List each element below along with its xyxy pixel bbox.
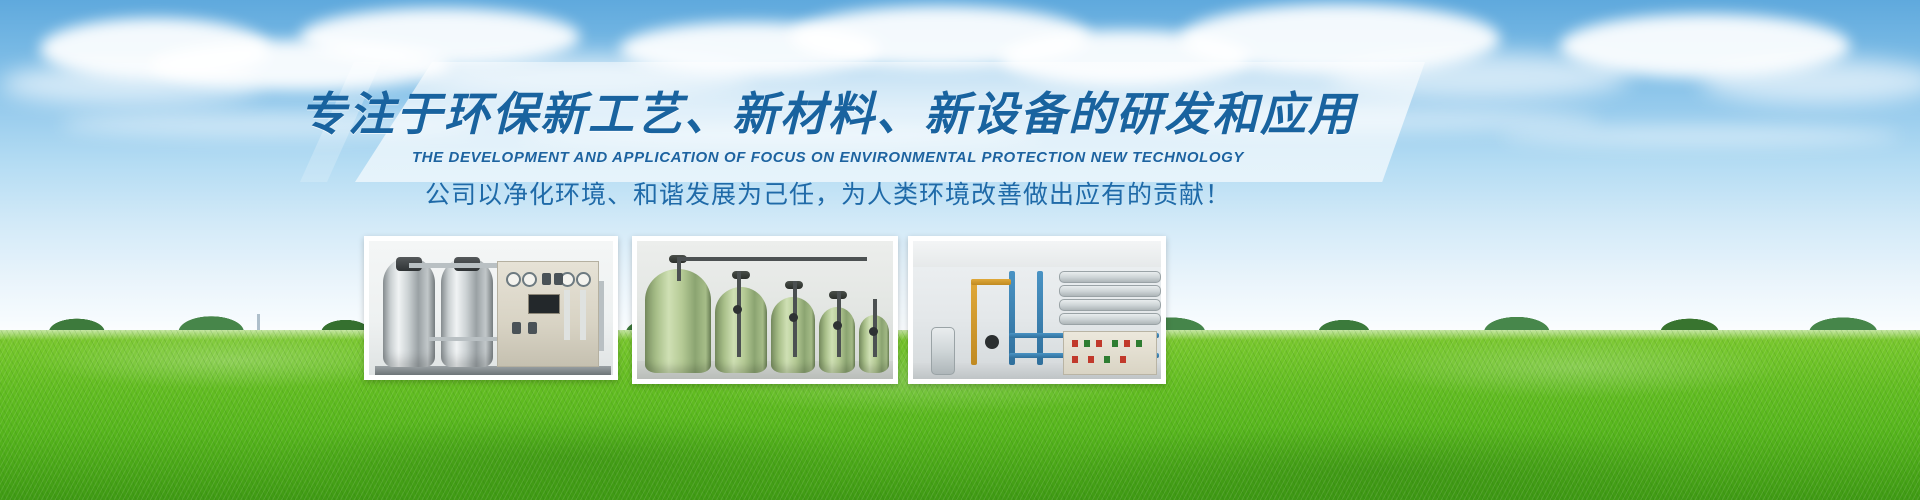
product-photo-3[interactable] bbox=[908, 236, 1166, 384]
indicator-light bbox=[1072, 356, 1078, 363]
indicator-light bbox=[1096, 340, 1102, 347]
header-pipe bbox=[677, 257, 867, 261]
blue-pipe bbox=[1037, 271, 1043, 365]
product-photo-1[interactable] bbox=[364, 236, 618, 380]
vessel-cap bbox=[732, 271, 750, 279]
frp-vessel bbox=[715, 287, 767, 373]
indicator-light bbox=[1120, 356, 1126, 363]
control-switch bbox=[512, 322, 521, 334]
product-photo-2[interactable] bbox=[632, 236, 898, 384]
control-switch bbox=[554, 273, 563, 285]
pressure-gauge bbox=[576, 272, 591, 287]
control-switch bbox=[528, 322, 537, 334]
ro-membrane-tube bbox=[1059, 313, 1161, 325]
indicator-light bbox=[1112, 340, 1118, 347]
pressure-gauge bbox=[522, 272, 537, 287]
pipe bbox=[677, 257, 681, 281]
product-photo-2-image bbox=[637, 241, 893, 379]
pipe bbox=[737, 271, 741, 357]
yellow-pipe bbox=[971, 279, 977, 365]
indicator-light bbox=[1136, 340, 1142, 347]
banner-subtitle-en: THE DEVELOPMENT AND APPLICATION OF FOCUS… bbox=[300, 148, 1356, 168]
filter-housing bbox=[931, 327, 955, 375]
control-panel bbox=[1063, 331, 1157, 375]
banner-text-block: 专注于环保新工艺、新材料、新设备的研发和应用 THE DEVELOPMENT A… bbox=[0, 86, 1920, 212]
pipe bbox=[599, 281, 604, 351]
indicator-light bbox=[1088, 356, 1094, 363]
product-photo-row bbox=[0, 236, 1920, 396]
ro-membrane-tube bbox=[1059, 285, 1161, 297]
product-photo-1-image bbox=[369, 241, 613, 375]
steel-tank bbox=[441, 257, 493, 367]
valve bbox=[789, 313, 798, 322]
control-cabinet bbox=[497, 261, 599, 367]
banner-headline: 专注于环保新工艺、新材料、新设备的研发和应用 bbox=[300, 86, 1356, 142]
ceiling bbox=[913, 241, 1161, 267]
frp-vessel bbox=[645, 269, 711, 373]
steel-tank bbox=[383, 257, 435, 367]
display-screen bbox=[528, 294, 560, 314]
indicator-light bbox=[1072, 340, 1078, 347]
pressure-gauge bbox=[506, 272, 521, 287]
banner-tagline-cn: 公司以净化环境、和谐发展为己任，为人类环境改善做出应有的贡献！ bbox=[300, 178, 1356, 212]
valve bbox=[733, 305, 742, 314]
product-photo-3-image bbox=[913, 241, 1161, 379]
valve bbox=[869, 327, 878, 336]
equipment-base bbox=[375, 366, 611, 375]
indicator-light bbox=[1104, 356, 1110, 363]
valve bbox=[833, 321, 842, 330]
sight-glass bbox=[580, 290, 586, 340]
indicator-light bbox=[1084, 340, 1090, 347]
ro-membrane-tube bbox=[1059, 299, 1161, 311]
indicator-light bbox=[1124, 340, 1130, 347]
ro-membrane-tube bbox=[1059, 271, 1161, 283]
control-switch bbox=[542, 273, 551, 285]
hero-banner: 专注于环保新工艺、新材料、新设备的研发和应用 THE DEVELOPMENT A… bbox=[0, 0, 1920, 500]
pump bbox=[985, 335, 999, 349]
sight-glass bbox=[564, 290, 570, 340]
blue-pipe bbox=[1009, 271, 1015, 365]
yellow-pipe bbox=[971, 279, 1011, 285]
